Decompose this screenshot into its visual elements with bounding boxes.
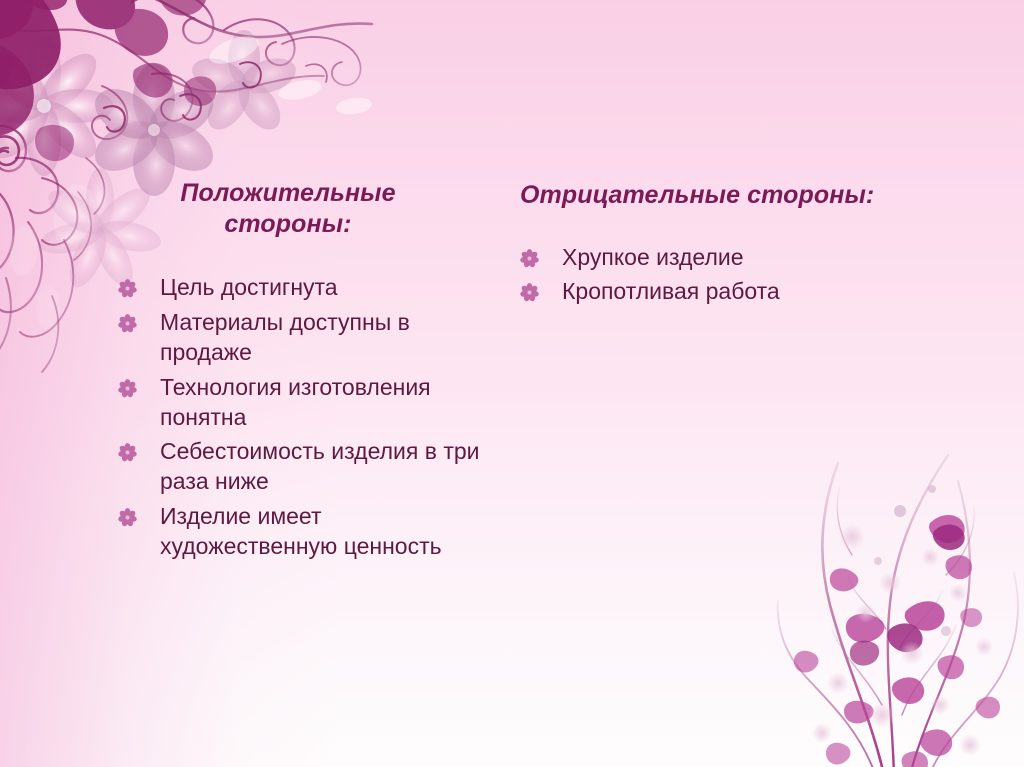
list-item: Кропотливая работа <box>520 277 990 307</box>
list-item-label: Кропотливая работа <box>562 277 990 307</box>
list-item-label: Изделие имеет художественную ценность <box>160 502 498 562</box>
positive-bullet-list: Цель достигнута Материалы доступны в <box>118 273 498 562</box>
branch-leaves <box>794 515 1000 767</box>
list-item-label: Хрупкое изделие <box>562 243 990 273</box>
list-item: Материалы доступны в продаже <box>118 308 498 368</box>
list-item: Себестоимость изделия в три раза ниже <box>118 437 498 497</box>
flower-bullet-icon <box>520 283 539 302</box>
ornament-corner-mass <box>0 0 71 136</box>
negative-bullet-list: Хрупкое изделие Кропотливая работа <box>520 243 990 308</box>
slide-canvas: Положительные стороны: Цель достигнут <box>0 0 1024 767</box>
positive-column-heading: Положительные стороны: <box>118 0 498 239</box>
flower-bullet-icon <box>118 508 137 527</box>
flower-bullet-icon <box>118 314 137 333</box>
list-item: Изделие имеет художественную ценность <box>118 502 498 562</box>
flower-bullet-icon <box>520 249 539 268</box>
branch-dots <box>812 485 993 756</box>
negative-column: Отрицательные стороны: Хрупкое издели <box>520 0 990 312</box>
list-item-label: Цель достигнута <box>160 273 498 303</box>
list-item-label: Себестоимость изделия в три раза ниже <box>160 437 498 497</box>
list-item-label: Материалы доступны в продаже <box>160 308 498 368</box>
list-item-label: Технология изготовления понятна <box>160 373 498 433</box>
list-item: Цель достигнута <box>118 273 498 303</box>
positive-column: Положительные стороны: Цель достигнут <box>118 0 498 567</box>
list-item: Технология изготовления понятна <box>118 373 498 433</box>
list-item: Хрупкое изделие <box>520 243 990 273</box>
negative-column-heading: Отрицательные стороны: <box>520 0 990 211</box>
branch-stems <box>778 455 1018 767</box>
flowering-branch-ornament <box>734 415 1024 767</box>
flower-bullet-icon <box>118 379 137 398</box>
branch-buds <box>850 525 965 666</box>
flower-bullet-icon <box>118 443 137 462</box>
flower-bullet-icon <box>118 279 137 298</box>
